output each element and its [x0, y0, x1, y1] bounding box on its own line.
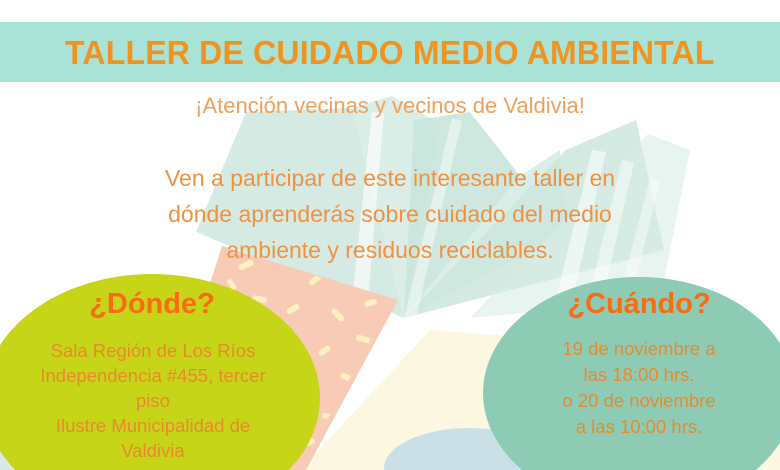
where-line-5: Valdivia	[0, 438, 316, 463]
where-line-3: piso	[0, 388, 316, 413]
when-line-3: o 20 de noviembre	[483, 388, 780, 414]
where-line-1: Sala Región de Los Ríos	[0, 338, 316, 363]
title-band: TALLER DE CUIDADO MEDIO AMBIENTAL	[0, 22, 780, 82]
when-line-2: las 18:00 hrs.	[483, 362, 780, 388]
where-details: Sala Región de Los Ríos Independencia #4…	[0, 338, 316, 463]
paragraph-line-3: ambiente y residuos reciclables.	[90, 232, 690, 268]
where-line-4: Ilustre Municipalidad de	[0, 413, 316, 438]
poster-subtitle: ¡Atención vecinas y vecinos de Valdivia!	[0, 93, 780, 119]
when-line-4: a las 10:00 hrs.	[483, 414, 780, 440]
when-heading: ¿Cuándo?	[483, 288, 780, 321]
when-details: 19 de noviembre a las 18:00 hrs. o 20 de…	[483, 336, 780, 440]
paragraph-line-2: dónde aprenderás sobre cuidado del medio	[90, 196, 690, 232]
paragraph-line-1: Ven a participar de este interesante tal…	[90, 160, 690, 196]
page-title: TALLER DE CUIDADO MEDIO AMBIENTAL	[65, 36, 715, 69]
where-heading: ¿Dónde?	[0, 288, 320, 321]
where-line-2: Independencia #455, tercer	[0, 363, 316, 388]
poster-canvas: TALLER DE CUIDADO MEDIO AMBIENTAL ¡Atenc…	[0, 0, 780, 470]
poster-paragraph: Ven a participar de este interesante tal…	[90, 160, 690, 268]
when-line-1: 19 de noviembre a	[483, 336, 780, 362]
